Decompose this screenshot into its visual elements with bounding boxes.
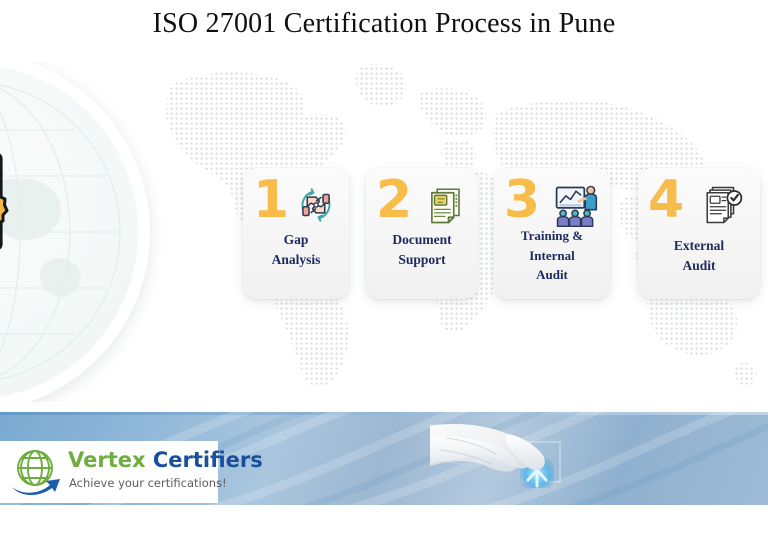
step-card-document-support[interactable]: 2 Document: [366, 168, 478, 299]
logo-name-vertex: Vertex: [68, 448, 146, 472]
step-number-2: 2: [376, 174, 412, 226]
step-card-training-internal-audit[interactable]: 3: [494, 168, 610, 299]
step-1-line-2: Analysis: [272, 252, 321, 267]
step-number-4: 4: [648, 174, 684, 226]
hand-touching-glowing-interface: [430, 414, 640, 505]
page-title: ISO 27001 Certification Process in Pune: [0, 8, 768, 40]
step-card-external-audit[interactable]: 4 Ext: [638, 168, 760, 299]
iso-certification-label: ISO Certification: [0, 280, 40, 319]
step-4-line-2: Audit: [682, 258, 715, 273]
step-label-3: Training & Internal Audit: [494, 226, 610, 285]
step-label-2: Document Support: [366, 230, 478, 271]
step-1-line-1: Gap: [284, 232, 309, 247]
step-number-3: 3: [504, 174, 540, 226]
step-2-line-1: Document: [392, 232, 451, 247]
step-4-line-1: External: [674, 238, 724, 253]
step-3-line-2: Internal: [529, 248, 575, 263]
step-label-1: Gap Analysis: [243, 230, 349, 271]
logo-wordmark: Vertex Certifiers: [68, 448, 263, 472]
audit-documents-check-icon: [702, 184, 744, 226]
logo-name-certifiers: Certifiers: [153, 448, 263, 472]
company-logo[interactable]: Vertex Certifiers Achieve your certifica…: [0, 441, 218, 503]
iso-certification-badge: ISO Certification: [0, 62, 170, 402]
step-label-4: External Audit: [638, 236, 760, 277]
handshake-icon: [295, 184, 337, 226]
step-card-gap-analysis[interactable]: 1 Gap: [243, 168, 349, 299]
step-3-line-1: Training &: [521, 228, 583, 243]
step-3-line-3: Audit: [536, 267, 568, 282]
logo-tagline: Achieve your certifications!: [69, 476, 227, 490]
document-stack-icon: [424, 184, 466, 226]
step-2-line-2: Support: [398, 252, 445, 267]
globe-circle: [0, 64, 138, 400]
infographic-canvas: ISO 27001 Certification Process in Pune: [0, 0, 768, 543]
certificate-seal-icon: [0, 150, 14, 260]
globe-arrow-logo-icon: [10, 447, 66, 497]
step-number-1: 1: [253, 174, 289, 226]
training-presentation-icon: [552, 182, 600, 230]
